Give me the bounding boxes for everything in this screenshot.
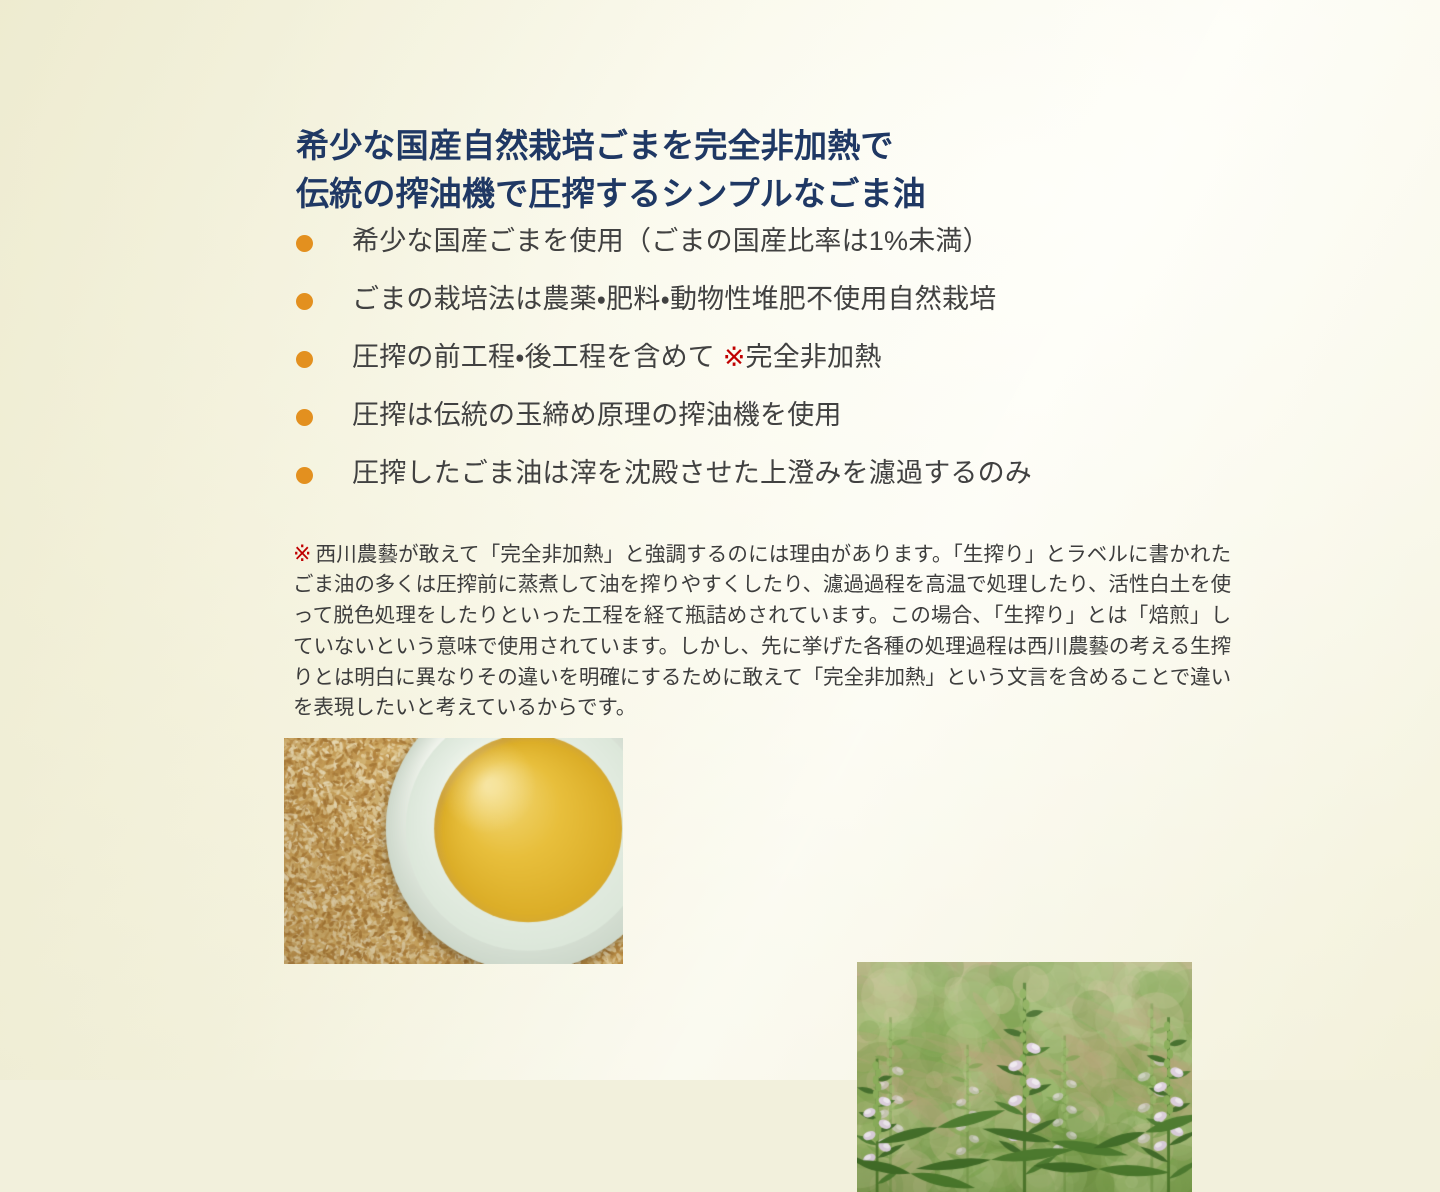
list-item: 希少な国産ごまを使用（ごまの国産比率は1%未満）: [296, 222, 1236, 280]
photo-sesame-plants-in-field-image: [857, 962, 1192, 1192]
photo-sesame-seeds-and-oil-bowl-image: [284, 738, 623, 964]
bullet-dot-icon: [296, 409, 313, 426]
bullet-item-text-after: 完全非加熱: [746, 342, 882, 372]
bullet-item-text-before: 圧搾の前工程・後工程を含めて: [352, 342, 723, 372]
bullet-dot-icon: [296, 351, 313, 368]
bullet-dot-icon: [296, 235, 313, 252]
footnote-text: 西川農藝が敢えて「完全非加熱」と強調するのには理由があります。「生搾り」とラベル…: [293, 543, 1231, 720]
list-item: ごまの栽培法は農薬・肥料・動物性堆肥不使用自然栽培: [296, 280, 1236, 338]
list-item: 圧搾したごま油は滓を沈殿させた上澄みを濾過するのみ: [296, 454, 1236, 512]
photo-sesame-plants-in-field: [857, 962, 1192, 1192]
bullet-dot-icon: [296, 293, 313, 310]
kome-marker-icon: ※: [293, 541, 312, 566]
photo-sesame-seeds-and-oil-bowl: [284, 738, 623, 964]
page-title: 希少な国産自然栽培ごまを完全非加熱で 伝統の搾油機で圧搾するシンプルなごま油: [296, 122, 1276, 218]
slide-canvas: 希少な国産自然栽培ごまを完全非加熱で 伝統の搾油機で圧搾するシンプルなごま油 希…: [0, 0, 1440, 1080]
bullet-dot-icon: [296, 467, 313, 484]
list-item: 圧搾は伝統の玉締め原理の搾油機を使用: [296, 396, 1236, 454]
list-item: 圧搾の前工程・後工程を含めて ※完全非加熱: [296, 338, 1236, 396]
kome-marker-icon: ※: [723, 342, 746, 372]
bullet-item-label: 希少な国産ごまを使用（ごまの国産比率は1%未満）: [352, 222, 1236, 260]
footnote-paragraph: ※西川農藝が敢えて「完全非加熱」と強調するのには理由があります。「生搾り」とラベ…: [293, 537, 1231, 725]
bullet-item-label: 圧搾の前工程・後工程を含めて ※完全非加熱: [352, 338, 1236, 376]
bullet-item-label: 圧搾したごま油は滓を沈殿させた上澄みを濾過するのみ: [352, 454, 1236, 492]
bullet-item-label: ごまの栽培法は農薬・肥料・動物性堆肥不使用自然栽培: [352, 280, 1236, 318]
bullet-list: 希少な国産ごまを使用（ごまの国産比率は1%未満） ごまの栽培法は農薬・肥料・動物…: [296, 222, 1236, 512]
bullet-item-label: 圧搾は伝統の玉締め原理の搾油機を使用: [352, 396, 1236, 434]
